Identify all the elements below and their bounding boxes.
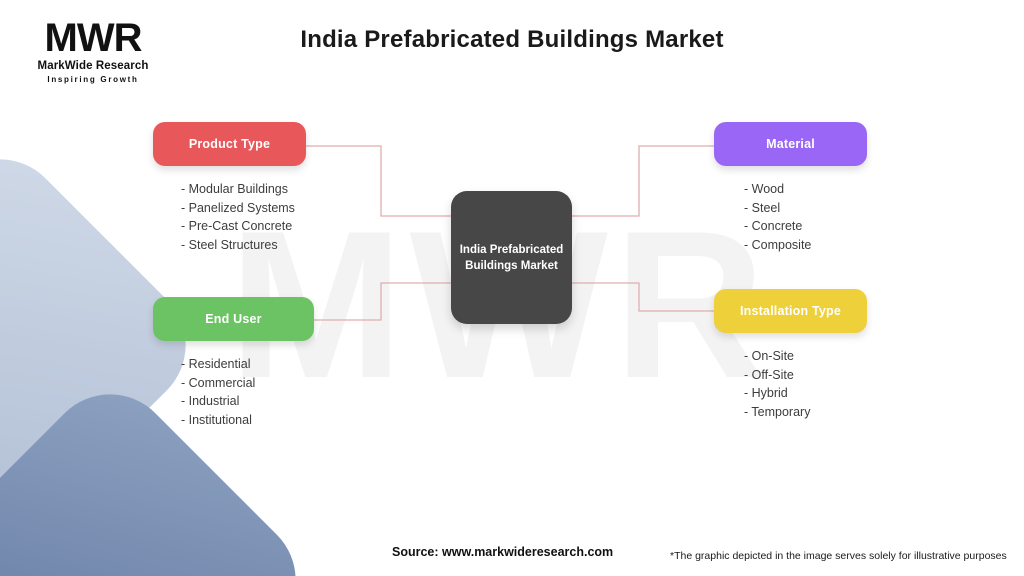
center-node-label-line2: Buildings Market [465,260,558,272]
list-item: - Residential [181,355,314,374]
list-item: - Concrete [744,217,867,236]
connector-end-user [314,283,451,320]
branch-installation-type: Installation Type - On-Site - Off-Site -… [714,289,867,437]
branch-chip-installation-type[interactable]: Installation Type [714,289,867,333]
branch-label-product-type: Product Type [189,137,270,151]
branch-list-installation-type: - On-Site - Off-Site - Hybrid - Temporar… [714,347,867,421]
list-item: - Industrial [181,392,314,411]
branch-end-user: End User - Residential - Commercial - In… [153,297,314,445]
footer-source: Source: www.markwideresearch.com [392,545,613,559]
footer-disclaimer: *The graphic depicted in the image serve… [670,550,1007,562]
branch-chip-product-type[interactable]: Product Type [153,122,306,166]
branch-label-material: Material [766,137,815,151]
center-node[interactable]: India Prefabricated Buildings Market [451,191,572,324]
list-item: - On-Site [744,347,867,366]
connector-material [572,146,714,216]
list-item: - Steel [744,199,867,218]
list-item: - Hybrid [744,384,867,403]
list-item: - Commercial [181,374,314,393]
list-item: - Composite [744,236,867,255]
branch-list-product-type: - Modular Buildings - Panelized Systems … [153,180,306,254]
branch-label-end-user: End User [205,312,261,326]
connector-installation-type [572,283,714,311]
branch-list-material: - Wood - Steel - Concrete - Composite [714,180,867,254]
branch-list-end-user: - Residential - Commercial - Industrial … [153,355,314,429]
list-item: - Pre-Cast Concrete [181,217,306,236]
branch-material: Material - Wood - Steel - Concrete - Com… [714,122,867,270]
connector-product-type [306,146,451,216]
center-node-label-line1: India Prefabricated [460,244,564,256]
list-item: - Panelized Systems [181,199,306,218]
list-item: - Temporary [744,403,867,422]
branch-chip-end-user[interactable]: End User [153,297,314,341]
list-item: - Off-Site [744,366,867,385]
branch-product-type: Product Type - Modular Buildings - Panel… [153,122,306,270]
list-item: - Modular Buildings [181,180,306,199]
center-node-label: India Prefabricated Buildings Market [452,242,572,274]
list-item: - Institutional [181,411,314,430]
branch-chip-material[interactable]: Material [714,122,867,166]
infographic-canvas: MWR MWR MarkWide Research Inspiring Grow… [0,0,1024,576]
list-item: - Wood [744,180,867,199]
list-item: - Steel Structures [181,236,306,255]
branch-label-installation-type: Installation Type [740,304,841,318]
